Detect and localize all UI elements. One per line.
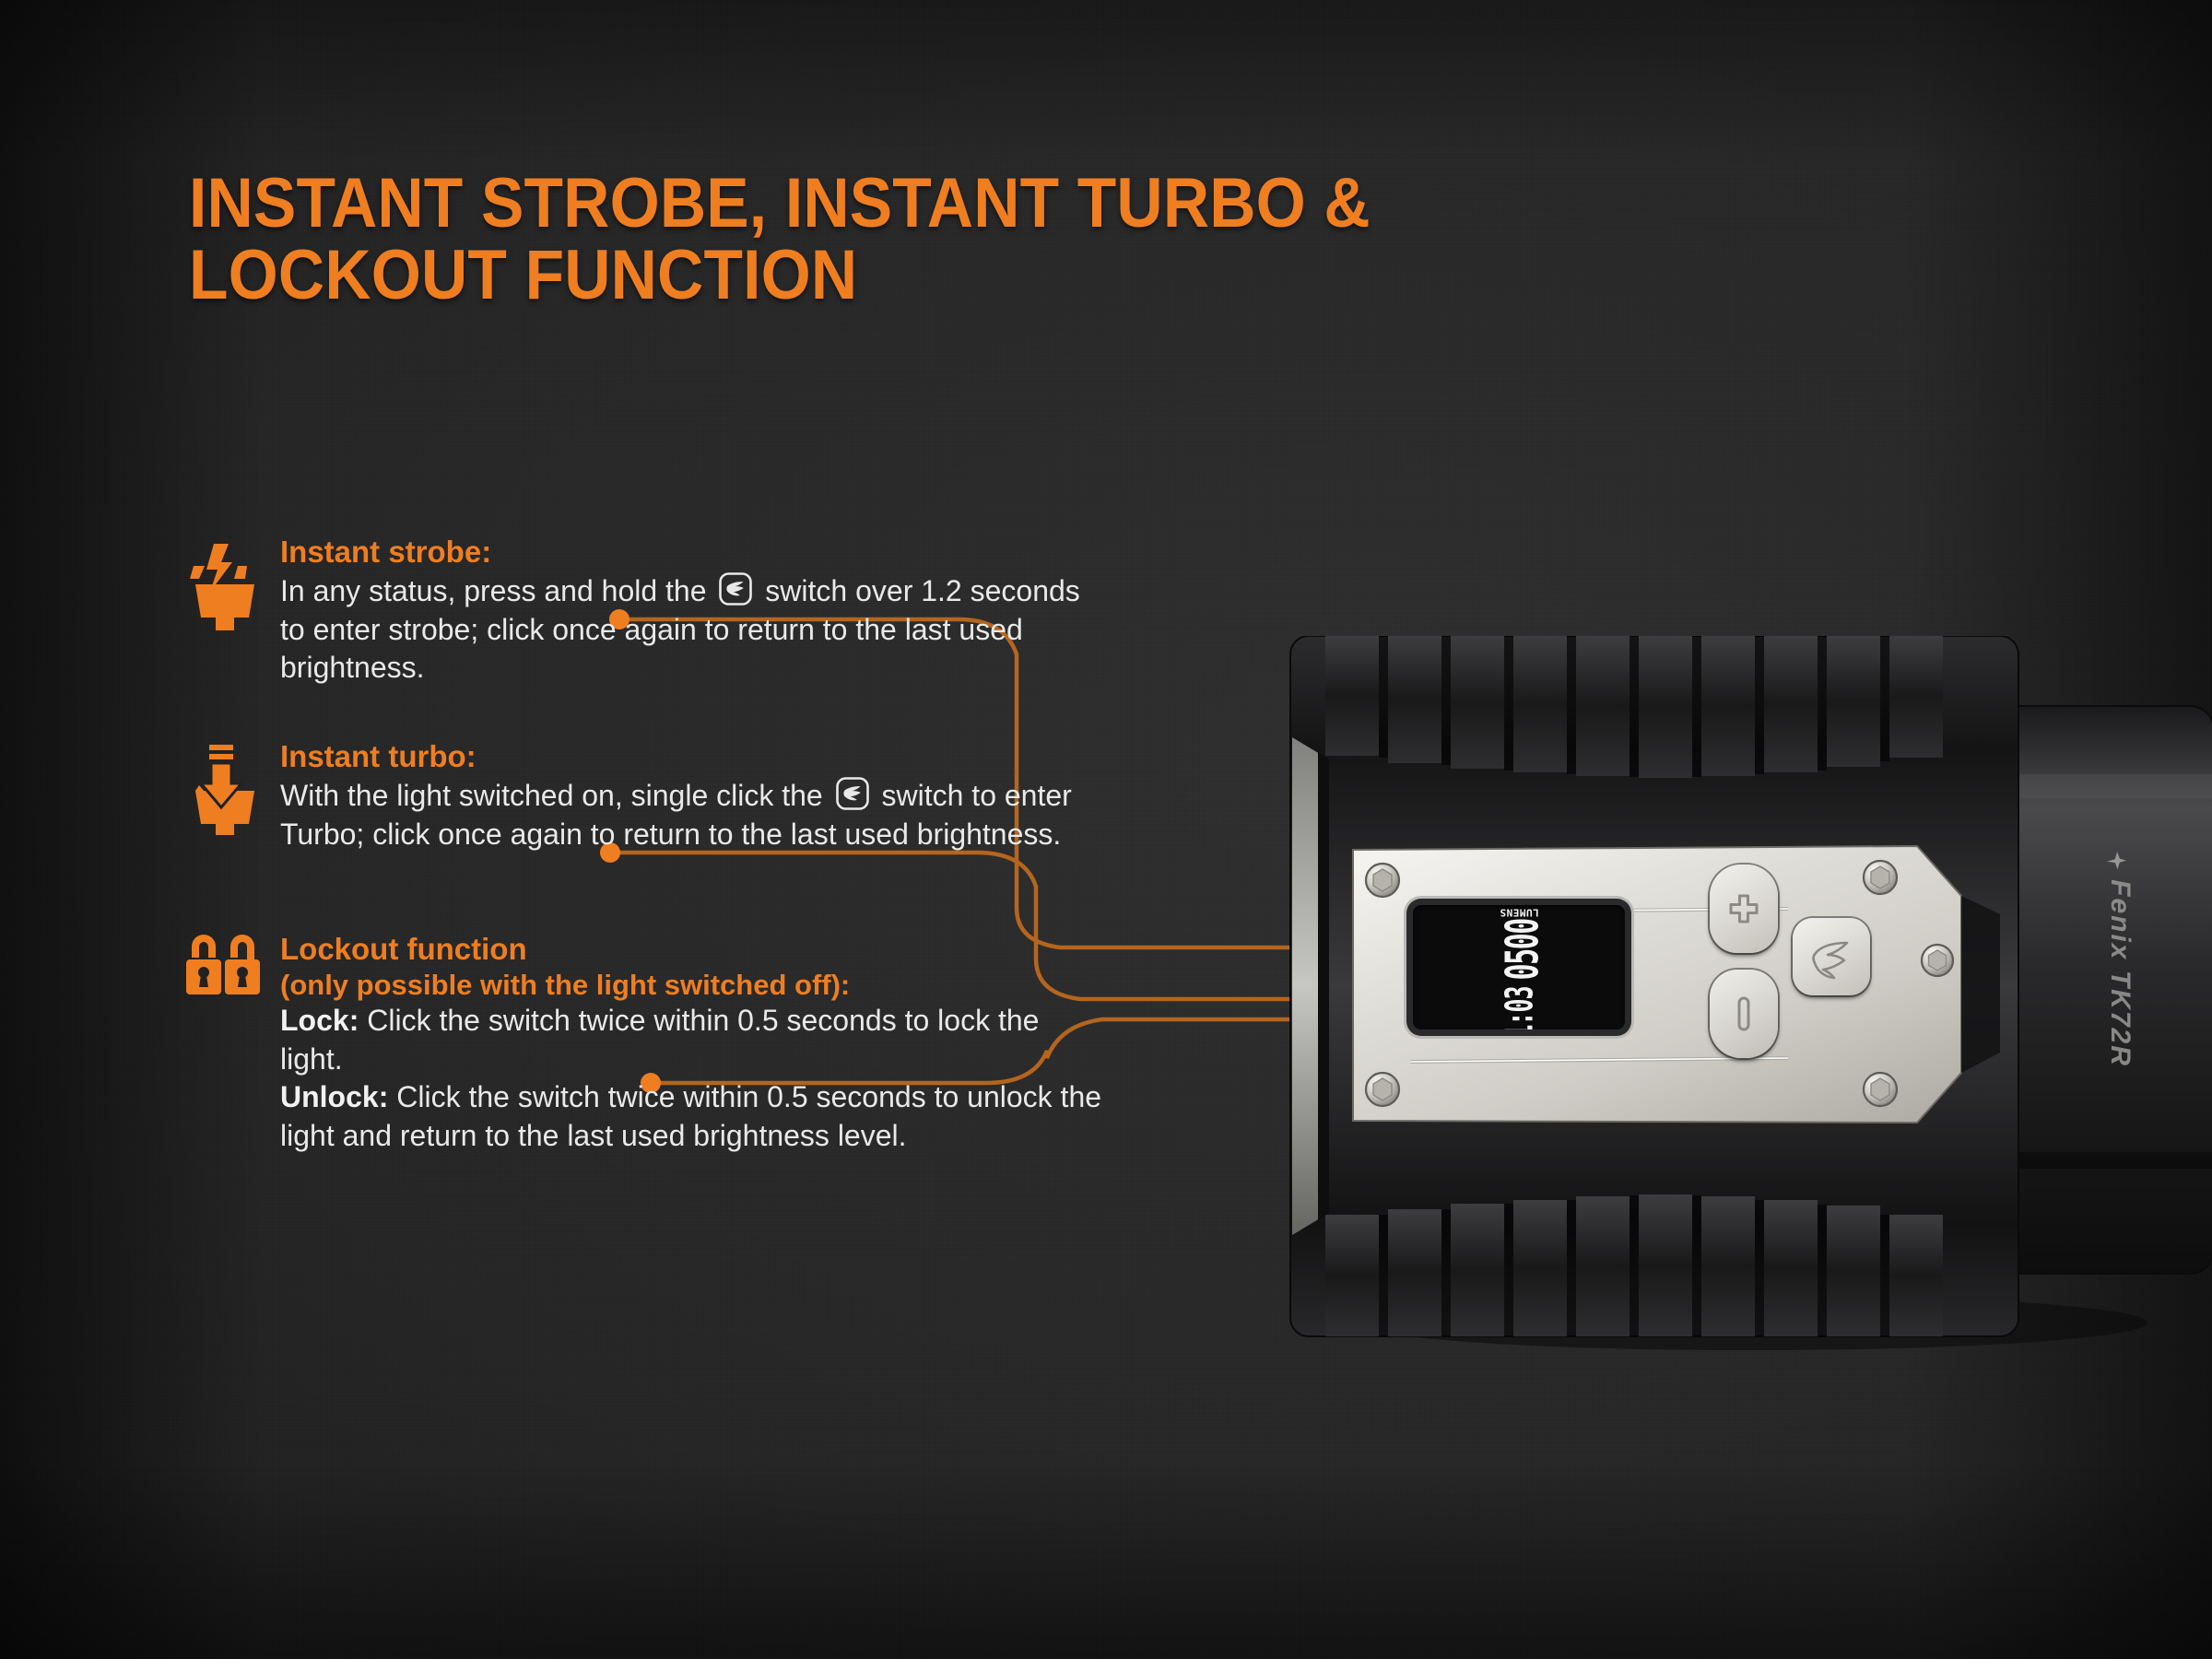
page-title: INSTANT STROBE, INSTANT TURBO & LOCKOUT …	[189, 168, 1623, 311]
section-text: In any status, press and hold the switch…	[280, 571, 1102, 688]
section-text-part-a: With the light switched on, single click…	[280, 779, 831, 812]
minus-icon	[1734, 993, 1754, 1035]
section-text-part-a: In any status, press and hold the	[280, 574, 714, 607]
plus-icon	[1725, 890, 1762, 927]
page-title-line-2: LOCKOUT FUNCTION	[189, 240, 1623, 312]
section-instant-strobe-body: Instant strobe: In any status, press and…	[280, 535, 1102, 688]
section-subheading: (only possible with the light switched o…	[280, 968, 1102, 1002]
lcd-runtime-column: 0:51:03	[1508, 986, 1531, 1030]
up-button[interactable]	[1710, 865, 1778, 953]
product-brand-label: Fenix TK72R	[2104, 850, 2136, 1067]
page-title-line-1: INSTANT STROBE, INSTANT TURBO &	[189, 168, 1623, 240]
section-instant-turbo: Instant turbo: With the light switched o…	[181, 739, 1102, 928]
lcd-lumens-unit: LUMENS	[1500, 907, 1539, 917]
section-heading: Lockout function	[280, 932, 1102, 968]
switch-glyph-icon	[717, 571, 754, 607]
lcd-runtime: 0:51:03	[1500, 986, 1537, 1030]
unlock-description: Click the switch twice within 0.5 second…	[280, 1080, 1101, 1152]
fenix-logo-icon	[1807, 933, 1855, 981]
lcd-readout: 0:51:03 0500 LUMENS 97%	[1413, 905, 1625, 1030]
section-text-unlock: Unlock: Click the switch twice within 0.…	[280, 1078, 1102, 1155]
lcd-lumens-value: 0500	[1502, 919, 1547, 980]
lock-description: Click the switch twice within 0.5 second…	[280, 1004, 1039, 1076]
padlock-pair-icon	[181, 924, 271, 1024]
section-heading: Instant turbo:	[280, 739, 1102, 775]
section-heading: Instant strobe:	[280, 535, 1102, 571]
section-lockout-body: Lockout function (only possible with the…	[280, 932, 1102, 1156]
feature-sections: Instant strobe: In any status, press and…	[181, 535, 1102, 1159]
brand-text: Fenix TK72R	[2104, 879, 2136, 1067]
section-instant-strobe: Instant strobe: In any status, press and…	[181, 535, 1102, 735]
flashlight-turbo-icon	[181, 739, 271, 839]
section-text-lock: Lock: Click the switch twice within 0.5 …	[280, 1002, 1102, 1078]
lock-label: Lock:	[280, 1004, 359, 1037]
flashlight-strobe-icon	[181, 535, 271, 634]
fenix-star-icon	[2110, 850, 2131, 871]
down-button[interactable]	[1710, 970, 1778, 1058]
section-text: With the light switched on, single click…	[280, 775, 1102, 853]
lcd-lumens-group: 0500 LUMENS	[1500, 907, 1539, 980]
section-instant-turbo-body: Instant turbo: With the light switched o…	[280, 739, 1102, 853]
flashlight-lcd-display: 0:51:03 0500 LUMENS 97%	[1413, 905, 1625, 1030]
switch-glyph-icon	[834, 775, 871, 812]
power-switch-button[interactable]	[1793, 918, 1870, 995]
section-lockout-function: Lockout function (only possible with the…	[181, 932, 1102, 1156]
unlock-label: Unlock:	[280, 1080, 388, 1113]
